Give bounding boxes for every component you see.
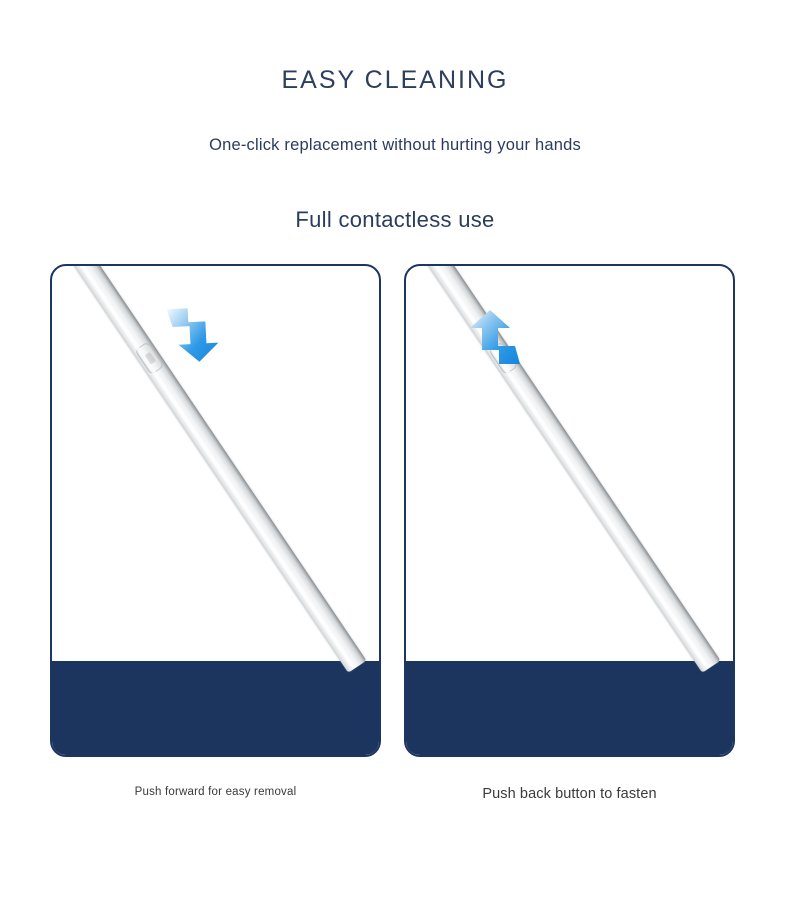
infographic-page: EASY CLEANING One-click replacement with… (0, 0, 790, 909)
arrow-up-left-icon (464, 306, 526, 368)
panel-group (0, 0, 790, 909)
panel-removal (50, 264, 381, 757)
floor-band (52, 661, 379, 755)
release-button-inner (144, 352, 156, 365)
caption-removal: Push forward for easy removal (50, 786, 381, 798)
caption-fasten: Push back button to fasten (404, 786, 735, 802)
floor-band (406, 661, 733, 755)
panel-removal-content (52, 266, 379, 755)
panel-fasten (404, 264, 735, 757)
arrow-down-right-icon (162, 304, 224, 366)
panel-fasten-content (406, 266, 733, 755)
release-button-icon (134, 341, 164, 375)
